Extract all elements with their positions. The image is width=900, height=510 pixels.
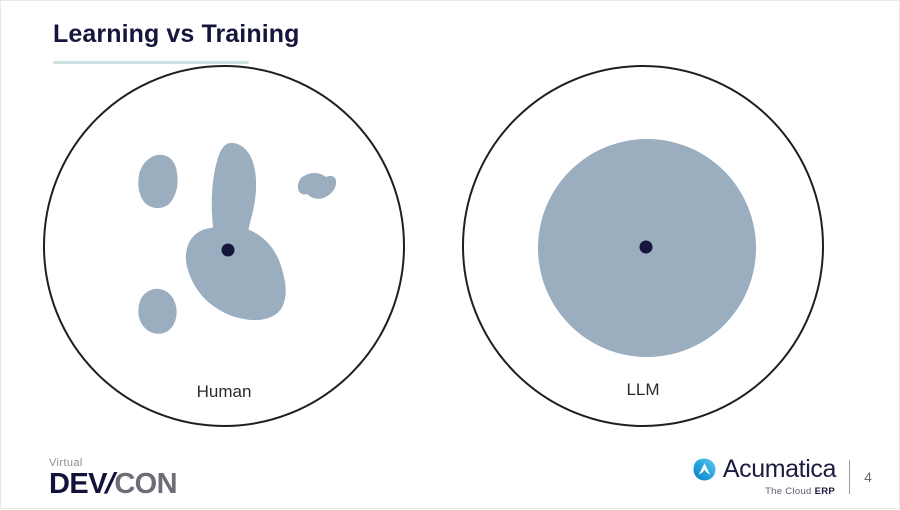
learning-vs-training-diagram [1, 1, 900, 510]
llm-outer-circle [463, 66, 823, 426]
slide-canvas: Learning vs Training Human [0, 0, 900, 509]
devcon-dev-text: DEV [49, 468, 107, 500]
page-number: 4 [863, 469, 873, 485]
llm-knowledge-circle [538, 139, 756, 357]
human-blob-right [298, 173, 336, 199]
acumatica-tagline: The Cloud ERP [765, 486, 835, 497]
acumatica-tagline-bold: ERP [815, 486, 835, 497]
acumatica-droplet-icon [692, 457, 717, 482]
llm-label: LLM [593, 380, 693, 400]
devcon-con-text: CON [114, 468, 177, 500]
human-blob-main [186, 227, 286, 320]
footer-divider [849, 460, 850, 494]
human-outer-circle [44, 66, 404, 426]
human-blob-central-spire [212, 143, 256, 263]
acumatica-logo: Acumatica The Cloud ERP [692, 457, 836, 497]
footer-right-group: Acumatica The Cloud ERP 4 [692, 457, 873, 497]
acumatica-name-row: Acumatica [692, 457, 836, 482]
human-blob-upper-left [138, 155, 177, 208]
title-underline-rule [53, 61, 249, 64]
acumatica-tagline-light: The Cloud [765, 486, 814, 497]
llm-center-dot [640, 241, 653, 254]
acumatica-wordmark: Acumatica [723, 457, 836, 482]
devcon-wordmark: DEV/CON [49, 470, 177, 499]
devcon-logo: Virtual DEV/CON [49, 458, 177, 499]
title-block: Learning vs Training [53, 21, 300, 64]
human-center-dot [222, 244, 235, 257]
human-blob-lower-left [138, 289, 176, 334]
human-label: Human [174, 382, 274, 402]
page-title: Learning vs Training [53, 21, 300, 49]
human-knowledge-blobs [138, 143, 336, 334]
